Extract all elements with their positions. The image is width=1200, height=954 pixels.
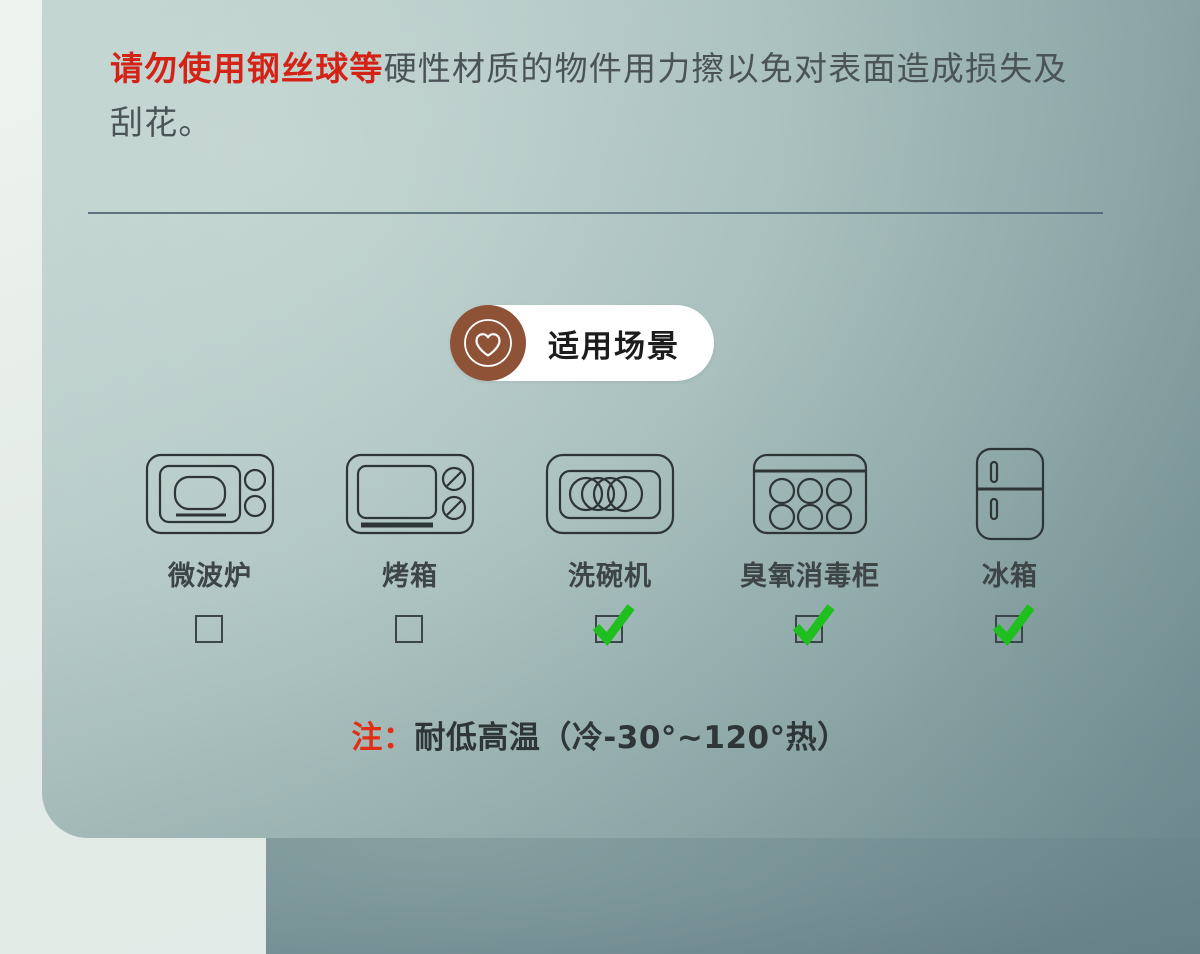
heart-in-circle-icon <box>450 305 526 381</box>
note-prefix: 注： <box>351 720 414 756</box>
check-icon <box>987 603 1037 649</box>
scene-list: 微波炉 烤箱 <box>110 444 1110 649</box>
scene-label: 洗碗机 <box>568 554 652 593</box>
checkbox-box <box>195 615 223 643</box>
scene-item-oven: 烤箱 <box>310 444 510 649</box>
section-badge: 适用场景 <box>450 305 714 381</box>
scene-checkbox-fridge[interactable] <box>987 609 1033 649</box>
scene-item-sterilizer: 臭氧消毒柜 <box>710 444 910 649</box>
scene-label: 冰箱 <box>982 554 1038 593</box>
dishwasher-icon <box>544 444 676 544</box>
scene-checkbox-microwave[interactable] <box>187 609 233 649</box>
scene-label: 微波炉 <box>168 554 252 593</box>
note-text: 耐低高温（冷-30°~120°热） <box>414 720 848 756</box>
microwave-icon <box>144 444 276 544</box>
warning-text: 请勿使用钢丝球等硬性材质的物件用力擦以免对表面造成损失及刮花。 <box>110 42 1100 150</box>
checkbox-box <box>395 615 423 643</box>
scene-item-microwave: 微波炉 <box>110 444 310 649</box>
section-badge-label: 适用场景 <box>548 321 680 366</box>
scene-checkbox-sterilizer[interactable] <box>787 609 833 649</box>
check-icon <box>587 603 637 649</box>
section-divider <box>88 212 1103 214</box>
scene-item-dishwasher: 洗碗机 <box>510 444 710 649</box>
scene-checkbox-oven[interactable] <box>387 609 433 649</box>
scene-label: 臭氧消毒柜 <box>740 554 880 593</box>
scene-item-fridge: 冰箱 <box>910 444 1110 649</box>
refrigerator-icon <box>944 444 1076 544</box>
scene-checkbox-dishwasher[interactable] <box>587 609 633 649</box>
ozone-sterilizer-icon <box>744 444 876 544</box>
scene-label: 烤箱 <box>382 554 438 593</box>
temperature-note: 注：耐低高温（冷-30°~120°热） <box>0 712 1200 757</box>
check-icon <box>787 603 837 649</box>
oven-icon <box>344 444 476 544</box>
warning-highlight: 请勿使用钢丝球等 <box>110 49 384 88</box>
